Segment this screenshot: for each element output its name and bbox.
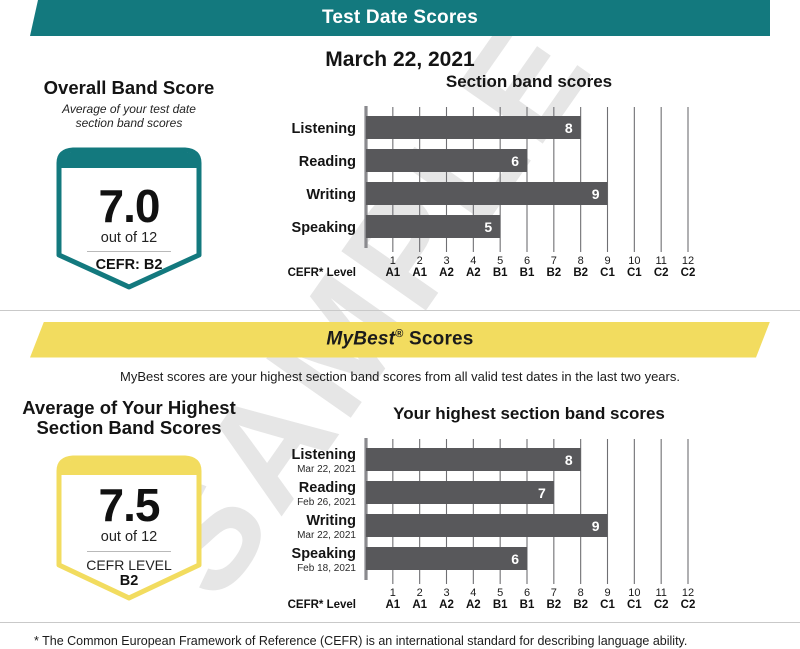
bar-value-reading: 7 (538, 485, 546, 501)
tick-number-11: 11 (655, 587, 666, 599)
bar-writing (366, 514, 608, 537)
tick-cefr-1: A1 (385, 599, 400, 608)
tick-number-5: 5 (497, 587, 503, 599)
tick-cefr-4: A2 (466, 599, 481, 608)
category-label-reading: Reading (299, 154, 356, 170)
bar-value-speaking: 5 (484, 219, 492, 235)
overall-subtitle-line-2: section band scores (0, 116, 258, 130)
mybest-chart-panel: Your highest section band scores 8Listen… (258, 392, 800, 608)
category-label-listening: Listening (292, 447, 356, 463)
tick-number-2: 2 (417, 587, 423, 599)
mybest-average-panel: Average of Your Highest Section Band Sco… (0, 392, 258, 607)
mybest-average-title: Average of Your Highest Section Band Sco… (0, 398, 258, 439)
tick-cefr-10: C1 (627, 599, 642, 608)
bar-speaking (366, 547, 527, 570)
mybest-scores-banner: MyBest® Scores (30, 322, 770, 358)
mybest-banner-title-italic: MyBest (326, 329, 395, 350)
tick-cefr-6: B1 (520, 267, 535, 276)
tick-cefr-12: C2 (681, 599, 696, 608)
overall-score-out-of: out of 12 (101, 231, 157, 247)
bar-value-listening: 8 (565, 120, 573, 136)
test-date-bar-chart-svg: 8Listening6Reading9Writing5Speaking1A12A… (258, 101, 788, 276)
bar-speaking (366, 215, 500, 238)
tick-number-7: 7 (551, 587, 557, 599)
bar-value-speaking: 6 (511, 551, 519, 567)
overall-band-score-subtitle: Average of your test date section band s… (0, 102, 258, 131)
tick-number-11: 11 (655, 255, 666, 267)
tick-number-8: 8 (578, 255, 584, 267)
test-date-scores-banner-title: Test Date Scores (322, 7, 478, 29)
tick-cefr-12: C2 (681, 267, 696, 276)
overall-band-score-title: Overall Band Score (0, 78, 258, 99)
test-date-scores-banner: Test Date Scores (30, 0, 770, 36)
mybest-average-title-line-1: Average of Your Highest (0, 398, 258, 419)
mybest-score-out-of: out of 12 (101, 530, 157, 546)
tick-number-4: 4 (470, 587, 476, 599)
tick-number-2: 2 (417, 255, 423, 267)
cefr-axis-label: CEFR* Level (288, 599, 356, 608)
mybest-banner-title: MyBest® Scores (326, 328, 473, 350)
category-label-listening: Listening (292, 121, 356, 137)
tick-number-3: 3 (443, 255, 449, 267)
bar-value-reading: 6 (511, 153, 519, 169)
tick-number-6: 6 (524, 587, 530, 599)
mybest-bar-chart-svg: 8ListeningMar 22, 20217ReadingFeb 26, 20… (258, 433, 788, 608)
category-label-writing: Writing (306, 513, 356, 529)
bar-reading (366, 481, 554, 504)
tick-cefr-3: A2 (439, 267, 454, 276)
tick-number-9: 9 (604, 255, 610, 267)
cefr-axis-label: CEFR* Level (288, 267, 356, 276)
test-date-chart-panel: Section band scores 8Listening6Reading9W… (258, 72, 800, 276)
tick-cefr-11: C2 (654, 599, 669, 608)
test-date-section: Overall Band Score Average of your test … (0, 72, 800, 296)
tick-cefr-3: A2 (439, 599, 454, 608)
tick-number-10: 10 (628, 587, 640, 599)
tick-number-5: 5 (497, 255, 503, 267)
bar-value-listening: 8 (565, 452, 573, 468)
bar-reading (366, 149, 527, 172)
tick-number-4: 4 (470, 255, 476, 267)
mybest-description: MyBest scores are your highest section b… (0, 369, 800, 384)
tick-number-1: 1 (390, 587, 396, 599)
mybest-shield-divider-rule (87, 551, 171, 552)
tick-number-12: 12 (682, 255, 694, 267)
bar-value-writing: 9 (592, 186, 600, 202)
mybest-score-value: 7.5 (99, 482, 160, 528)
tick-cefr-5: B1 (493, 267, 508, 276)
tick-cefr-1: A1 (385, 267, 400, 276)
overall-subtitle-line-1: Average of your test date (0, 102, 258, 116)
category-date-listening: Mar 22, 2021 (297, 464, 356, 475)
mybest-chart: 8ListeningMar 22, 20217ReadingFeb 26, 20… (258, 433, 800, 608)
tick-number-10: 10 (628, 255, 640, 267)
category-label-speaking: Speaking (292, 220, 356, 236)
test-date-chart-title: Section band scores (258, 72, 800, 92)
registered-mark-icon: ® (395, 328, 403, 340)
tick-cefr-8: B2 (573, 599, 588, 608)
bar-writing (366, 182, 608, 205)
tick-cefr-11: C2 (654, 267, 669, 276)
tick-cefr-10: C1 (627, 267, 642, 276)
bar-listening (366, 448, 581, 471)
overall-cefr-value: CEFR: B2 (96, 257, 163, 274)
tick-cefr-9: C1 (600, 599, 615, 608)
category-label-speaking: Speaking (292, 546, 356, 562)
mybest-cefr-label: CEFR LEVEL (86, 557, 172, 573)
test-date-banner-wrap: Test Date Scores (0, 0, 800, 36)
category-date-writing: Mar 22, 2021 (297, 530, 356, 541)
tick-number-9: 9 (604, 587, 610, 599)
tick-number-3: 3 (443, 587, 449, 599)
tick-cefr-5: B1 (493, 599, 508, 608)
overall-score-shield: 7.0 out of 12 CEFR: B2 (49, 141, 209, 296)
test-date-chart: 8Listening6Reading9Writing5Speaking1A12A… (258, 101, 800, 276)
test-date-heading: March 22, 2021 (0, 48, 800, 72)
tick-number-7: 7 (551, 255, 557, 267)
mybest-banner-wrap: MyBest® Scores (0, 322, 800, 358)
tick-cefr-8: B2 (573, 267, 588, 276)
tick-cefr-7: B2 (546, 599, 561, 608)
tick-cefr-4: A2 (466, 267, 481, 276)
shield-divider-rule (87, 251, 171, 252)
mybest-banner-title-rest: Scores (404, 329, 474, 350)
tick-cefr-7: B2 (546, 267, 561, 276)
tick-number-12: 12 (682, 587, 694, 599)
mybest-average-title-line-2: Section Band Scores (0, 418, 258, 439)
mybest-cefr-value: B2 (120, 573, 139, 590)
tick-number-6: 6 (524, 255, 530, 267)
mybest-section: Average of Your Highest Section Band Sco… (0, 392, 800, 608)
overall-band-score-panel: Overall Band Score Average of your test … (0, 72, 258, 296)
tick-cefr-9: C1 (600, 267, 615, 276)
bar-value-writing: 9 (592, 518, 600, 534)
tick-cefr-2: A1 (412, 599, 427, 608)
tick-number-1: 1 (390, 255, 396, 267)
category-label-writing: Writing (306, 187, 356, 203)
tick-cefr-6: B1 (520, 599, 535, 608)
mybest-score-shield: 7.5 out of 12 CEFR LEVEL B2 (49, 449, 209, 607)
mybest-chart-title: Your highest section band scores (258, 404, 800, 424)
tick-cefr-2: A1 (412, 267, 427, 276)
tick-number-8: 8 (578, 587, 584, 599)
category-date-speaking: Feb 18, 2021 (297, 563, 356, 574)
overall-score-value: 7.0 (99, 183, 160, 229)
category-date-reading: Feb 26, 2021 (297, 497, 356, 508)
bar-listening (366, 116, 581, 139)
category-label-reading: Reading (299, 480, 356, 496)
